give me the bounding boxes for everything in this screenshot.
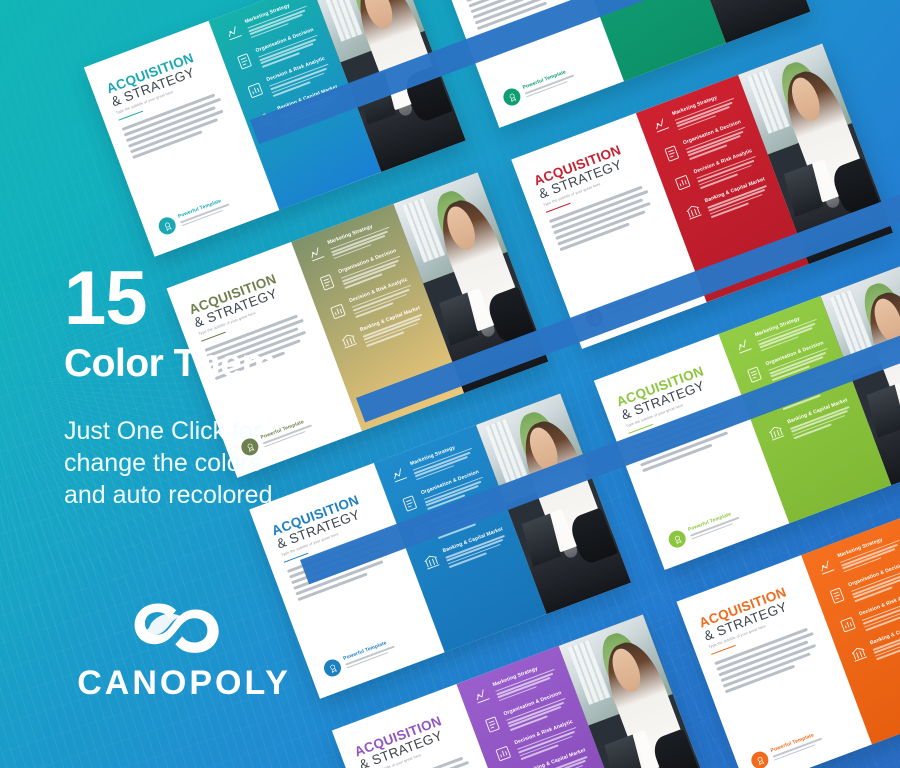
page-title: Color Theme (64, 344, 394, 385)
bank-building-icon (765, 422, 787, 444)
document-list-icon (661, 143, 683, 165)
subheadline-line-2: change the colors (64, 447, 394, 479)
chart-line-icon (223, 21, 245, 43)
award-seal-icon (749, 749, 771, 768)
bank-building-icon (683, 201, 705, 223)
brand-logo: CANOPOLY (64, 598, 304, 703)
headline-block: 15 Color Theme Just One Click for change… (64, 264, 394, 511)
subheadline-line-3: and auto recolored (64, 479, 394, 511)
analytics-grid-icon (672, 172, 694, 194)
brochure-badge: Powerful Template (501, 66, 576, 108)
theme-count: 15 (64, 264, 394, 334)
subheadline: Just One Click for change the colors and… (64, 415, 394, 511)
analytics-grid-icon (492, 743, 514, 765)
document-list-icon (826, 585, 848, 607)
brochure-badge: Powerful Template (749, 729, 824, 768)
chart-line-icon (733, 335, 755, 357)
document-list-icon (399, 493, 421, 515)
brochure-badge: Powerful Template (666, 508, 741, 550)
chart-line-icon (815, 556, 837, 578)
brand-name: CANOPOLY (64, 664, 304, 703)
award-seal-icon (322, 657, 344, 679)
chart-line-icon (650, 114, 672, 136)
brochure-badge: Powerful Template (156, 195, 231, 237)
promo-banner: ACQUISITION & STRATEGY Type the subtitle… (0, 0, 900, 768)
infinity-ribbon-logo-icon (132, 598, 236, 654)
award-seal-icon (156, 215, 178, 237)
subheadline-line-1: Just One Click for (64, 415, 394, 447)
chart-line-icon (470, 685, 492, 707)
analytics-grid-icon (837, 614, 859, 636)
analytics-grid-icon (244, 80, 266, 102)
bank-building-icon (420, 551, 442, 573)
award-seal-icon (666, 528, 688, 550)
document-list-icon (481, 714, 503, 736)
award-seal-icon (501, 86, 523, 108)
brochure-badge: Powerful Template (322, 637, 397, 679)
document-list-icon (743, 364, 765, 386)
document-list-icon (233, 51, 255, 73)
bank-building-icon (848, 643, 870, 665)
brochure-feature-page: Marketing Strategy Organisation & Decisi… (884, 738, 900, 768)
chart-line-icon (305, 243, 327, 265)
